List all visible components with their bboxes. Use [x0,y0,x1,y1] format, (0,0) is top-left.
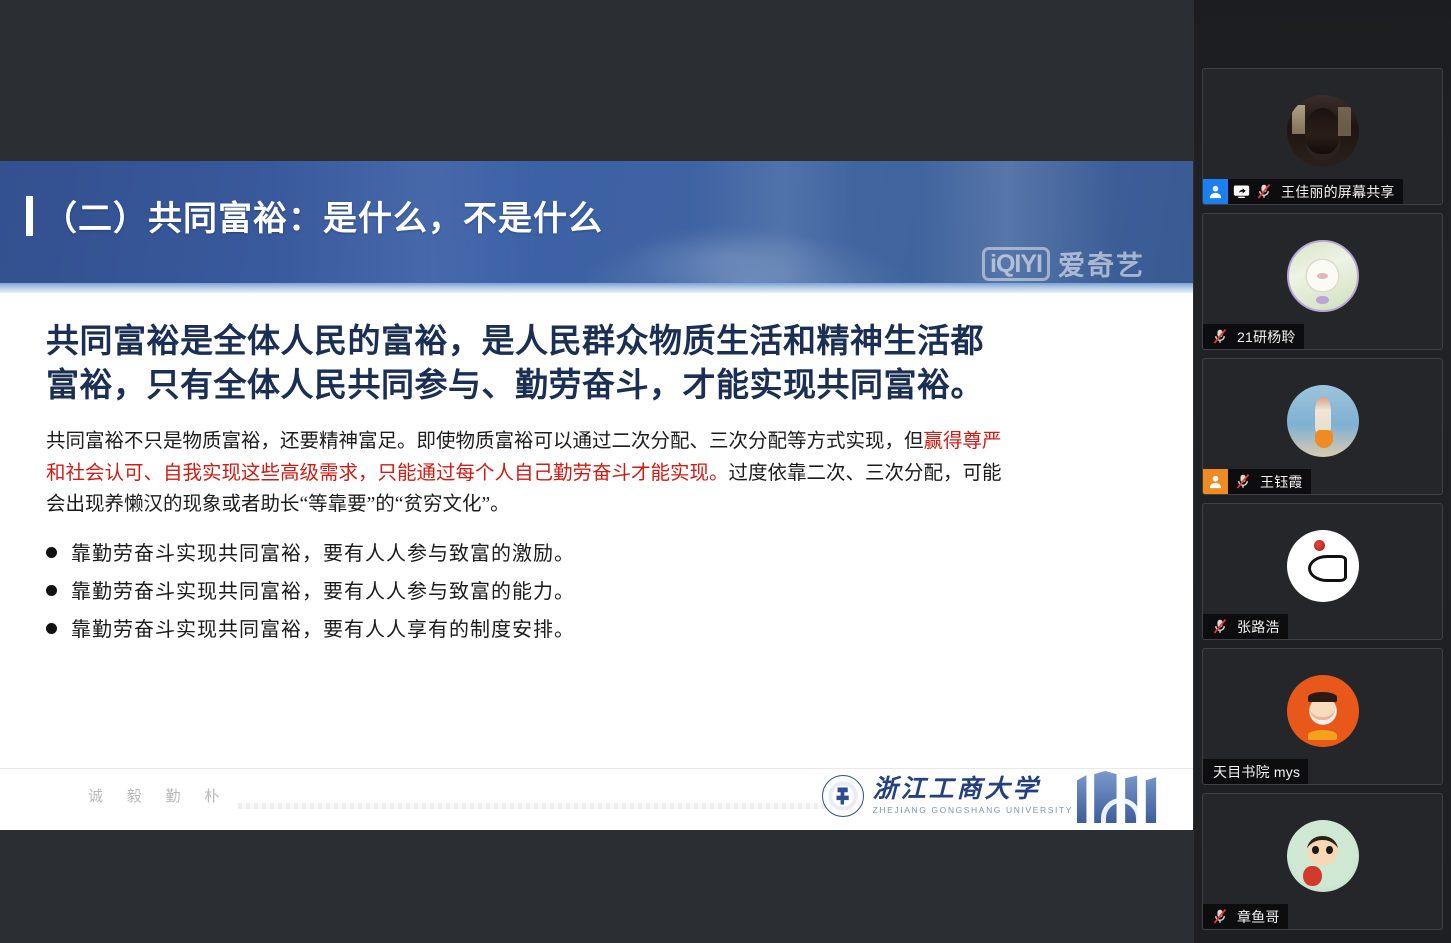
cohost-badge-person-icon [1203,469,1228,494]
footer-divider [238,803,863,809]
list-item: 靠勤劳奋斗实现共同富裕，要有人人享有的制度安排。 [46,613,1147,642]
paragraph-part-1: 共同富裕不只是物质富裕，还要精神富足。即使物质富裕可以通过二次分配、三次分配等方… [46,431,924,452]
participant-name-strip: 章鱼哥 [1203,904,1288,929]
avatar-tianmu-shuyuan [1287,675,1359,747]
avatar-wang-jiali [1287,95,1359,167]
participant-name-strip: 天目书院 mys [1203,759,1308,784]
university-name-group: 浙江工商大学 ZHEJIANG GONGSHANG UNIVERSITY [873,777,1073,814]
mic-muted-icon [1209,324,1231,349]
bullet-text: 靠勤劳奋斗实现共同富裕，要有人人参与致富的激励。 [71,537,575,566]
avatar-zhang-luhao [1287,530,1359,602]
screen-share-icon [1230,179,1252,204]
participant-name-strip: 王钰霞 [1203,469,1311,494]
mic-muted-icon [1232,469,1254,494]
participant-name: 王佳丽的屏幕共享 [1281,182,1395,202]
participant-tile[interactable]: 王佳丽的屏幕共享 [1202,68,1443,205]
university-seal-icon [822,775,864,817]
participant-name: 王钰霞 [1260,472,1303,492]
slide-title-group: （二）共同富裕：是什么，不是什么 [26,191,603,240]
university-brand: 浙江工商大学 ZHEJIANG GONGSHANG UNIVERSITY [822,775,1073,817]
bullet-text: 靠勤劳奋斗实现共同富裕，要有人人享有的制度安排。 [71,613,575,642]
mic-muted-icon [1253,179,1275,204]
slide-title: （二）共同富裕：是什么，不是什么 [43,191,603,240]
mic-muted-icon [1209,614,1231,639]
avatar-zhangyuge [1287,820,1359,892]
slide-headline: 共同富裕是全体人民的富裕，是人民群众物质生活和精神生活都富裕，只有全体人民共同参… [46,319,1006,406]
participant-panel[interactable]: 王佳丽的屏幕共享 21研杨聆 [1194,0,1451,943]
iqiyi-logo-icon: iQIYI [982,247,1050,281]
university-name-cn: 浙江工商大学 [873,776,1041,803]
slide-bullet-list: 靠勤劳奋斗实现共同富裕，要有人人参与致富的激励。 靠勤劳奋斗实现共同富裕，要有人… [46,537,1147,642]
slide-body: 共同富裕是全体人民的富裕，是人民群众物质生活和精神生活都富裕，只有全体人民共同参… [0,293,1193,830]
slide-header-band: （二）共同富裕：是什么，不是什么 iQIYI 爱奇艺 [0,161,1193,293]
slide-footer: 诚 毅 勤 朴 浙江工商大学 ZHEJIANG GONGSHANG UNIVER… [0,768,1193,830]
participant-tile[interactable]: 21研杨聆 [1202,213,1443,350]
bullet-dot-icon [46,585,57,596]
participant-name-strip: 王佳丽的屏幕共享 [1203,179,1403,204]
participant-name-strip: 21研杨聆 [1203,324,1304,349]
participant-tile[interactable]: 天目书院 mys [1202,648,1443,785]
participant-tile[interactable]: 章鱼哥 [1202,793,1443,930]
presentation-slide: （二）共同富裕：是什么，不是什么 iQIYI 爱奇艺 共同富裕是全体人民的富裕，… [0,161,1193,830]
participant-name: 天目书院 mys [1213,762,1300,782]
bullet-text: 靠勤劳奋斗实现共同富裕，要有人人参与致富的能力。 [71,575,575,604]
list-item: 靠勤劳奋斗实现共同富裕，要有人人参与致富的能力。 [46,575,1147,604]
participant-name: 21研杨聆 [1237,327,1296,347]
participant-name: 张路浩 [1237,617,1280,637]
participant-name: 章鱼哥 [1237,907,1280,927]
university-name-en: ZHEJIANG GONGSHANG UNIVERSITY [873,806,1073,815]
avatar-wang-yuxia [1287,385,1359,457]
participant-name-strip: 张路浩 [1203,614,1288,639]
participant-tile[interactable]: 张路浩 [1202,503,1443,640]
slide-paragraph: 共同富裕不只是物质富裕，还要精神富足。即使物质富裕可以通过二次分配、三次分配等方… [46,426,1011,521]
bullet-dot-icon [46,623,57,634]
university-motto: 诚 毅 勤 朴 [88,785,229,806]
iqiyi-wordmark: 爱奇艺 [1058,244,1145,283]
list-item: 靠勤劳奋斗实现共同富裕，要有人人参与致富的激励。 [46,537,1147,566]
shared-screen-stage[interactable]: （二）共同富裕：是什么，不是什么 iQIYI 爱奇艺 共同富裕是全体人民的富裕，… [0,0,1194,943]
title-accent-bar [26,196,33,236]
avatar-yang-ling [1287,240,1359,312]
meeting-window: （二）共同富裕：是什么，不是什么 iQIYI 爱奇艺 共同富裕是全体人民的富裕，… [0,0,1451,943]
bullet-dot-icon [46,547,57,558]
participant-tile[interactable]: 王钰霞 [1202,358,1443,495]
mic-muted-icon [1209,904,1231,929]
host-badge-person-icon [1203,179,1228,204]
iqiyi-watermark: iQIYI 爱奇艺 [982,244,1145,283]
